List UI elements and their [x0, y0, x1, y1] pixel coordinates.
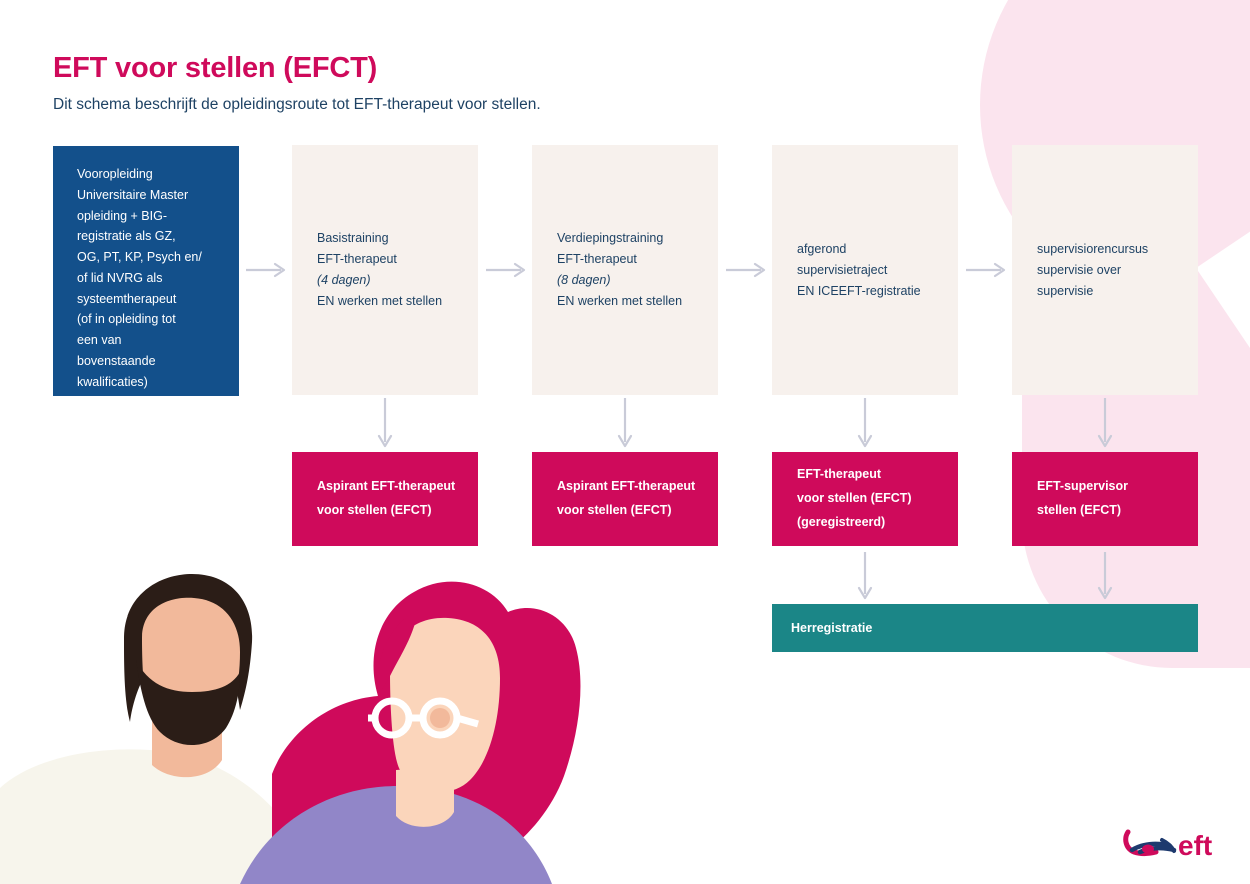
step-line: EFT-therapeut: [317, 249, 478, 270]
renewal-box: Herregistratie: [772, 604, 1198, 652]
step-line: Verdiepingstraining: [557, 228, 718, 249]
outcome-line: Aspirant EFT-therapeut: [317, 475, 455, 499]
prerequisite-line: of lid NVRG als: [77, 268, 217, 289]
step-line: EN ICEEFT-registratie: [797, 281, 958, 302]
arrow-down-6: [1097, 552, 1113, 602]
outcome-line: (geregistreerd): [797, 511, 912, 535]
step-line: Basistraining: [317, 228, 478, 249]
arrow-right-4: [966, 262, 1008, 278]
diagram-canvas: EFT voor stellen (EFCT) Dit schema besch…: [0, 0, 1250, 884]
step-line: EFT-therapeut: [557, 249, 718, 270]
outcome-box-aspirant-1: Aspirant EFT-therapeut voor stellen (EFC…: [292, 452, 478, 546]
step-line: afgerond: [797, 239, 958, 260]
outcome-box-geregistreerd: EFT-therapeut voor stellen (EFCT) (gereg…: [772, 452, 958, 546]
outcome-line: EFT-therapeut: [797, 463, 912, 487]
prerequisite-line: Vooropleiding: [77, 164, 217, 185]
arrow-right-2: [486, 262, 528, 278]
prerequisite-line: registratie als GZ,: [77, 226, 217, 247]
step-duration: (4 dagen): [317, 270, 478, 291]
step-line: EN werken met stellen: [317, 291, 478, 312]
prerequisite-line: Universitaire Master: [77, 185, 217, 206]
logo-mark: [1126, 832, 1174, 854]
step-line: supervisiorencursus: [1037, 239, 1198, 260]
prerequisite-line: een van: [77, 330, 217, 351]
outcome-line: EFT-supervisor: [1037, 475, 1128, 499]
prerequisite-box: Vooropleiding Universitaire Master oplei…: [53, 146, 239, 396]
step-box-verdiepingstraining: Verdiepingstraining EFT-therapeut (8 dag…: [532, 145, 718, 395]
people-illustration: [0, 560, 640, 884]
logo-wordmark: eft: [1178, 830, 1212, 861]
page-title: EFT voor stellen (EFCT): [53, 52, 377, 85]
outcome-line: voor stellen (EFCT): [797, 487, 912, 511]
outcome-box-aspirant-2: Aspirant EFT-therapeut voor stellen (EFC…: [532, 452, 718, 546]
outcome-line: voor stellen (EFCT): [317, 499, 455, 523]
arrow-right-3: [726, 262, 768, 278]
arrow-down-4: [1097, 398, 1113, 450]
step-box-supervisorencursus: supervisiorencursus supervisie over supe…: [1012, 145, 1198, 395]
step-line: EN werken met stellen: [557, 291, 718, 312]
arrow-right-1: [246, 262, 288, 278]
prerequisite-line: bovenstaande: [77, 351, 217, 372]
arrow-down-3: [857, 398, 873, 450]
arrow-down-1: [377, 398, 393, 450]
outcome-line: Aspirant EFT-therapeut: [557, 475, 695, 499]
step-box-supervisietraject: afgerond supervisietraject EN ICEEFT-reg…: [772, 145, 958, 395]
prerequisite-line: (of in opleiding tot: [77, 309, 217, 330]
woman-eye: [430, 708, 450, 728]
outcome-line: stellen (EFCT): [1037, 499, 1128, 523]
outcome-line: voor stellen (EFCT): [557, 499, 695, 523]
step-line: supervisie over: [1037, 260, 1198, 281]
page-subtitle: Dit schema beschrijft de opleidingsroute…: [53, 96, 541, 114]
step-line: supervisie: [1037, 281, 1198, 302]
prerequisite-line: OG, PT, KP, Psych en/: [77, 247, 217, 268]
renewal-label: Herregistratie: [791, 621, 872, 635]
arrow-down-2: [617, 398, 633, 450]
outcome-box-supervisor: EFT-supervisor stellen (EFCT): [1012, 452, 1198, 546]
prerequisite-line: kwalificaties): [77, 372, 217, 393]
step-line: supervisietraject: [797, 260, 958, 281]
step-duration: (8 dagen): [557, 270, 718, 291]
step-box-basistraining: Basistraining EFT-therapeut (4 dagen) EN…: [292, 145, 478, 395]
arrow-down-5: [857, 552, 873, 602]
prerequisite-line: opleiding + BIG-: [77, 206, 217, 227]
eft-logo: eft: [1122, 822, 1232, 866]
prerequisite-line: systeemtherapeut: [77, 289, 217, 310]
